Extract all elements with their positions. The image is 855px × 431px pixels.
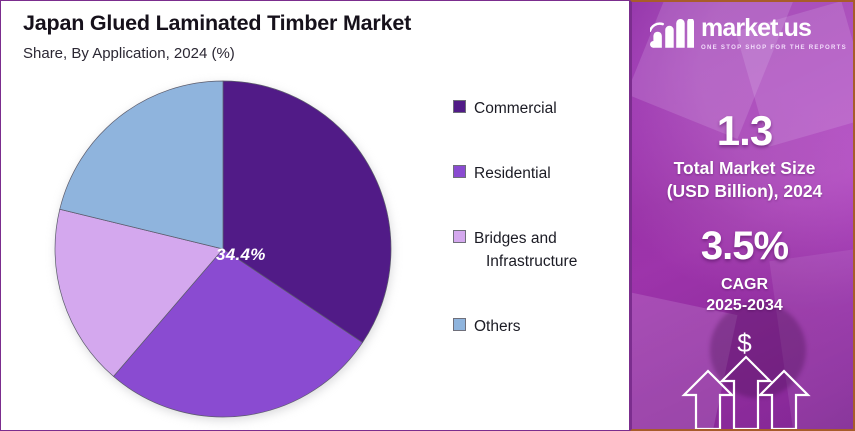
chart-panel: Japan Glued Laminated Timber Market Shar… — [0, 0, 630, 431]
market-size-caption-line1: Total Market Size — [632, 157, 855, 180]
legend-label: Others — [474, 315, 521, 338]
logo-tagline: ONE STOP SHOP FOR THE REPORTS — [701, 44, 847, 51]
legend-label-line2: Infrastructure — [474, 250, 577, 273]
legend-item-bridges-and-infrastructure[interactable]: Bridges andInfrastructure — [453, 227, 628, 273]
market-us-logo-icon — [650, 19, 694, 48]
page-subtitle: Share, By Application, 2024 (%) — [23, 45, 235, 62]
market-size-value: 1.3 — [632, 107, 855, 155]
legend-swatch-icon — [453, 100, 466, 113]
market-size-caption: Total Market Size (USD Billion), 2024 — [632, 157, 855, 203]
pie-chart: 34.4% — [51, 77, 396, 422]
cagr-caption-line2: 2025-2034 — [632, 295, 855, 316]
legend-label: Bridges andInfrastructure — [474, 227, 577, 273]
pie-slice-label-commercial: 34.4% — [216, 245, 266, 265]
market-size-caption-line2: (USD Billion), 2024 — [632, 180, 855, 203]
legend-label: Residential — [474, 162, 551, 185]
legend-label: Commercial — [474, 97, 557, 120]
brand-logo[interactable]: market.us ONE STOP SHOP FOR THE REPORTS — [650, 16, 847, 51]
legend-item-commercial[interactable]: Commercial — [453, 97, 628, 120]
growth-arrows-icon — [632, 339, 855, 429]
page-title: Japan Glued Laminated Timber Market — [23, 11, 411, 36]
infographic-root: Japan Glued Laminated Timber Market Shar… — [0, 0, 855, 431]
legend-label-line1: Bridges and — [474, 230, 557, 247]
cagr-value: 3.5% — [632, 224, 855, 269]
stats-sidebar: market.us ONE STOP SHOP FOR THE REPORTS … — [630, 0, 855, 431]
chart-legend: Commercial Residential Bridges andInfras… — [453, 97, 628, 380]
cagr-caption-line1: CAGR — [632, 274, 855, 295]
logo-wordmark: market.us — [701, 16, 847, 41]
legend-swatch-icon — [453, 165, 466, 178]
cagr-caption: CAGR 2025-2034 — [632, 274, 855, 316]
legend-item-residential[interactable]: Residential — [453, 162, 628, 185]
legend-swatch-icon — [453, 230, 466, 243]
legend-swatch-icon — [453, 318, 466, 331]
legend-item-others[interactable]: Others — [453, 315, 628, 338]
